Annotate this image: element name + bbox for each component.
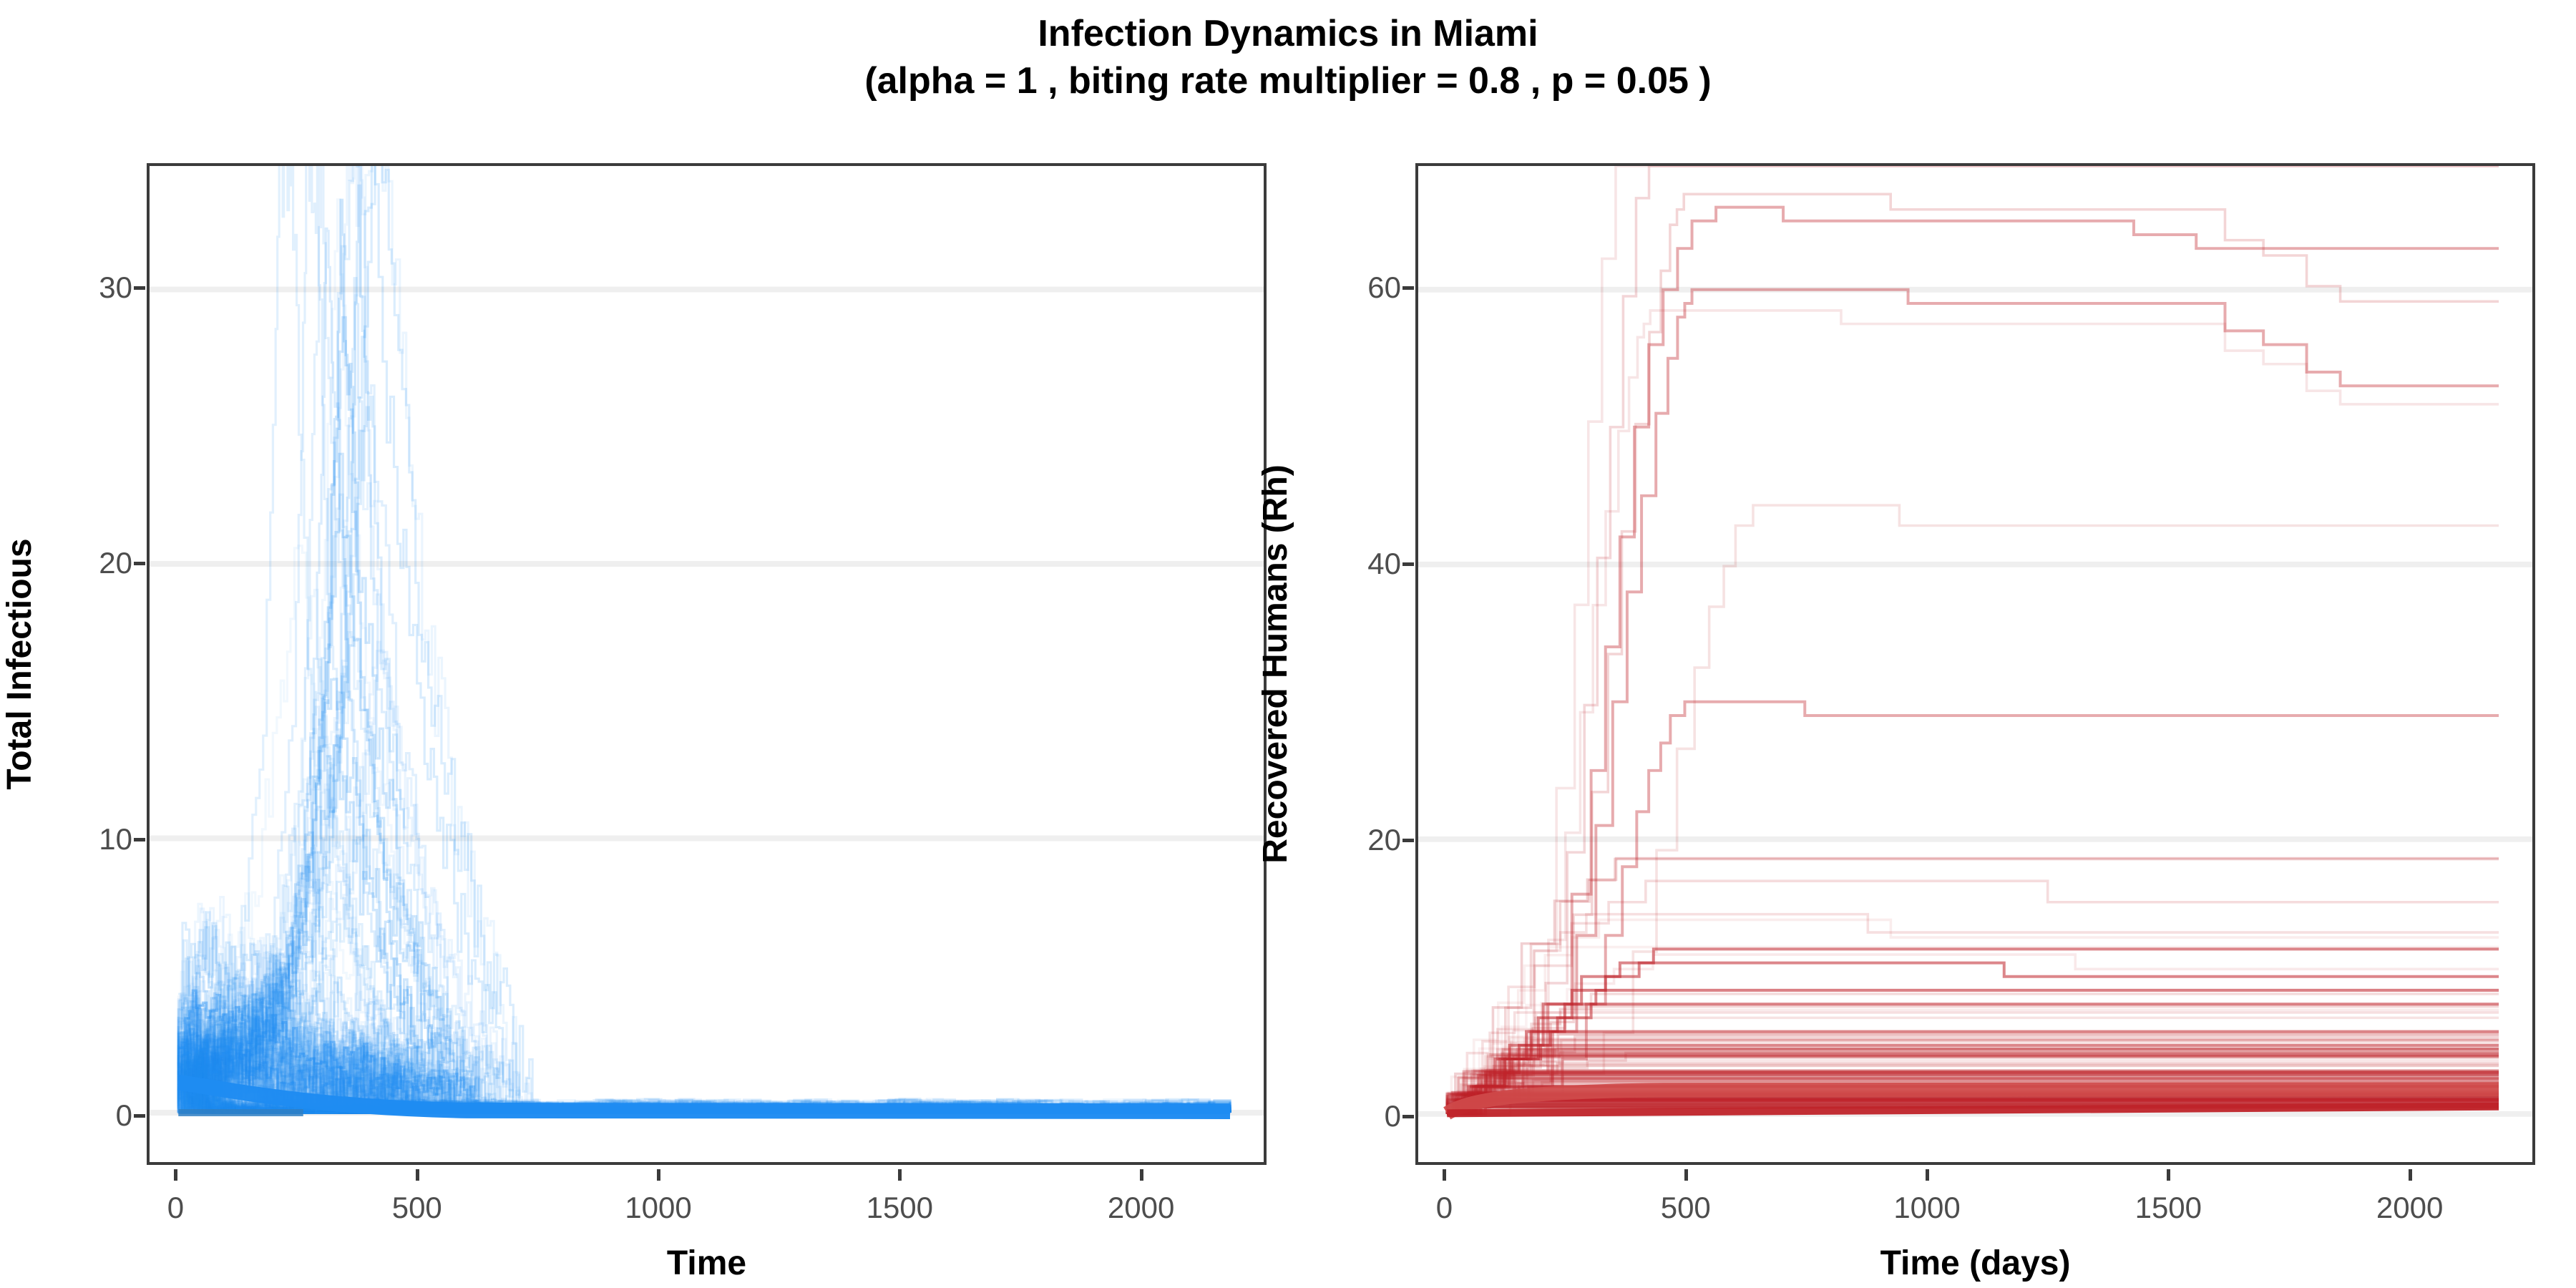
r-ytick-mark-0	[1402, 1115, 1414, 1118]
l-ytick-mark-3	[134, 286, 145, 290]
right-xtick-label-1500: 1500	[2135, 1191, 2202, 1225]
total-infectious-panel	[147, 163, 1267, 1165]
l-xtick-mark-1	[416, 1169, 419, 1181]
right-ytick-label-0: 0	[1337, 1099, 1401, 1133]
r-xtick-mark-1	[1684, 1169, 1688, 1181]
figure-canvas: Infection Dynamics in Miami (alpha = 1 ,…	[0, 0, 2576, 1288]
l-ytick-mark-1	[134, 838, 145, 841]
left-ytick-label-0: 0	[68, 1098, 132, 1133]
left-ytick-label-10: 10	[68, 822, 132, 857]
left-xtick-label-1500: 1500	[867, 1191, 933, 1225]
l-xtick-mark-0	[174, 1169, 177, 1181]
right-xtick-label-500: 500	[1661, 1191, 1711, 1225]
total-infectious-plot-area	[150, 166, 1264, 1162]
left-ytick-label-20: 20	[68, 546, 132, 580]
left-xtick-label-0: 0	[167, 1191, 184, 1225]
recovered-humans-plot-area	[1418, 166, 2532, 1162]
recovered-humans-panel	[1415, 163, 2535, 1165]
series-outlier-peak-1	[178, 200, 1230, 1113]
figure-title: Infection Dynamics in Miami (alpha = 1 ,…	[0, 10, 2576, 104]
right-xtick-label-2000: 2000	[2376, 1191, 2443, 1225]
right-ytick-label-20: 20	[1337, 823, 1401, 857]
title-line-2: (alpha = 1 , biting rate multiplier = 0.…	[0, 57, 2576, 104]
l-ytick-mark-0	[134, 1114, 145, 1118]
l-xtick-mark-4	[1140, 1169, 1143, 1181]
left-xtick-label-1000: 1000	[625, 1191, 691, 1225]
r-xtick-mark-0	[1443, 1169, 1446, 1181]
right-ytick-label-40: 40	[1337, 547, 1401, 581]
left-y-axis-title: Total Infectious	[0, 538, 39, 789]
left-ytick-label-30: 30	[68, 270, 132, 305]
right-xtick-label-1000: 1000	[1893, 1191, 1960, 1225]
l-xtick-mark-2	[657, 1169, 660, 1181]
l-ytick-mark-2	[134, 562, 145, 565]
title-line-1: Infection Dynamics in Miami	[0, 10, 2576, 57]
right-x-axis-title: Time (days)	[1415, 1244, 2535, 1283]
r-ytick-mark-1	[1402, 839, 1414, 842]
r-xtick-mark-3	[2167, 1169, 2170, 1181]
r-xtick-mark-4	[2409, 1169, 2412, 1181]
r-ytick-mark-2	[1402, 562, 1414, 566]
right-ytick-label-60: 60	[1337, 270, 1401, 305]
left-xtick-label-2000: 2000	[1108, 1191, 1174, 1225]
right-y-axis-title: Recovered Humans (Rh)	[1256, 464, 1295, 863]
r-xtick-mark-2	[1926, 1169, 1929, 1181]
r-ytick-mark-3	[1402, 286, 1414, 290]
left-xtick-label-500: 500	[392, 1191, 442, 1225]
l-xtick-mark-3	[898, 1169, 902, 1181]
right-xtick-label-0: 0	[1436, 1191, 1453, 1225]
left-x-axis-title: Time	[147, 1244, 1267, 1283]
